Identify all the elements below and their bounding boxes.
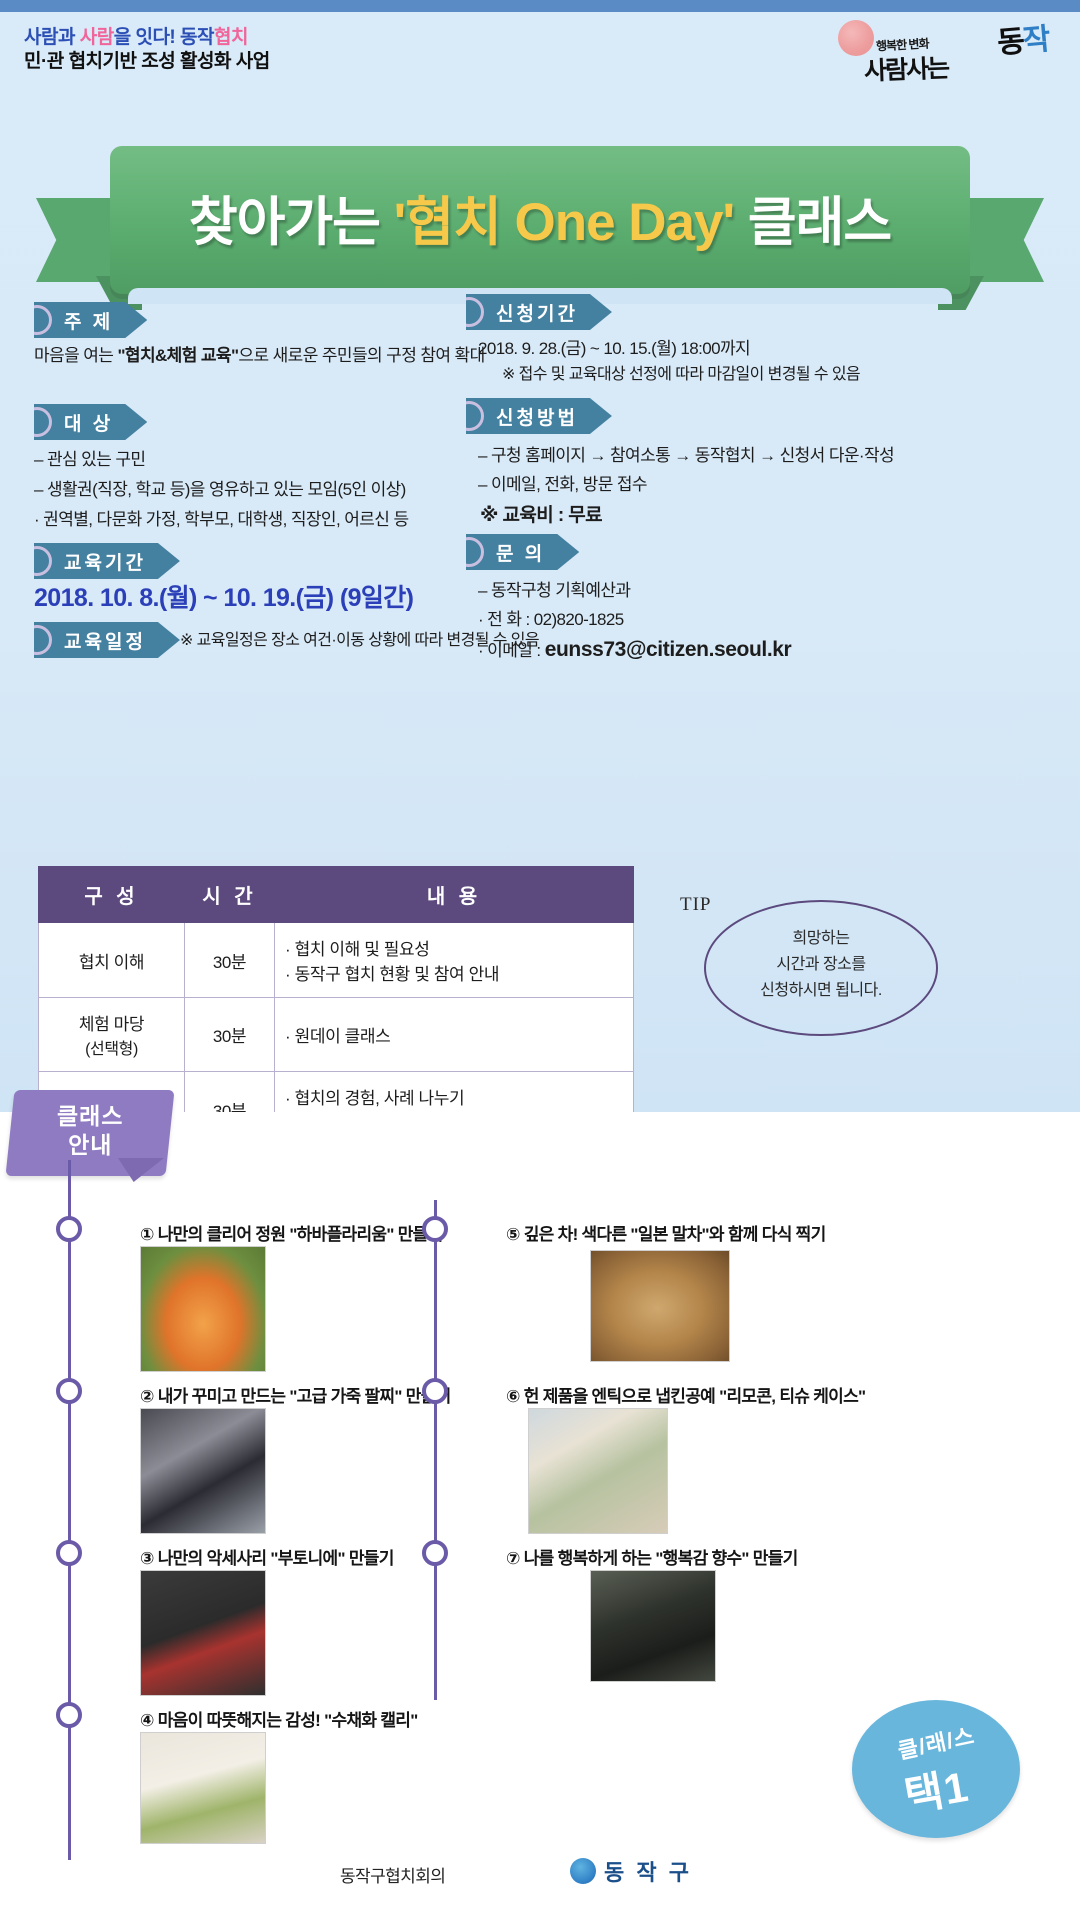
section-tag-topic: 주 제	[34, 302, 147, 338]
ribbon-tail-right	[966, 198, 1044, 282]
timeline-dot-icon	[422, 1378, 448, 1404]
class-item-title: ③ 나만의 악세사리 "부토니에" 만들기	[140, 1544, 394, 1569]
timeline-dot-icon	[422, 1216, 448, 1242]
class-guide-banner-text: 클래스 안내	[10, 1102, 170, 1160]
table-cell-name-text: 체험 마당	[49, 1010, 174, 1035]
class-item-number: ①	[140, 1225, 154, 1244]
class-item-number: ⑥	[506, 1387, 520, 1406]
poster-page: 사람과 사람을 잇다! 동작협치 민·관 협치기반 조성 활성화 사업 행복한 …	[0, 0, 1080, 1920]
section-tag-apply-period-label: 신청기간	[496, 299, 578, 326]
dongjak-district-logo: 행복한 변화 사람사는 동작	[828, 14, 1058, 78]
title-ribbon: 찾아가는 '협치 One Day' 클래스	[0, 120, 1080, 290]
top-accent-bar	[0, 0, 1080, 12]
ribbon-body: 찾아가는 '협치 One Day' 클래스	[110, 146, 970, 294]
title-part-2: '협치 One Day'	[394, 193, 734, 252]
tip-text-line: 희망하는	[704, 926, 938, 952]
table-cell-content: · 원데이 클래스	[275, 998, 634, 1072]
contact-email-value[interactable]: eunss73@citizen.seoul.kr	[545, 638, 792, 661]
logo-name: 동작	[995, 14, 1050, 62]
class-item-title: ④ 마음이 따뜻해지는 감성! "수채화 캘리"	[140, 1706, 418, 1731]
table-content-line: · 원데이 클래스	[285, 1022, 623, 1047]
header-line-1: 사람과 사람을 잇다! 동작협치	[24, 26, 270, 50]
contact-email-label: · 이메일 :	[478, 641, 545, 660]
title-part-3: 클래스	[734, 193, 891, 252]
table-content-line: · 동작구 협치 현황 및 참여 안내	[285, 960, 623, 985]
class-item-label: 내가 꾸미고 만드는 "고급 가죽 팔찌" 만들기	[158, 1387, 451, 1406]
contact-line-1: – 동작구청 기획예산과	[478, 578, 630, 604]
class-item-number: ③	[140, 1549, 154, 1568]
table-cell-time: 30분	[185, 923, 275, 998]
header-line1-part-e: 협치	[214, 27, 248, 48]
table-row: 체험 마당 (선택형) 30분 · 원데이 클래스	[39, 998, 634, 1072]
section-tag-target: 대 상	[34, 404, 147, 440]
apply-method-line-1: – 구청 홈페이지 → 참여소통 → 동작협치 → 신청서 다운·작성	[478, 443, 894, 469]
footer-organization: 동작구협치회의	[340, 1862, 445, 1887]
section-tag-topic-label: 주 제	[64, 307, 113, 334]
class-item-label: 나만의 악세사리 "부토니에" 만들기	[158, 1549, 394, 1568]
section-tag-period: 교육기간	[34, 543, 180, 579]
class-guide-line-1: 클래스	[10, 1102, 170, 1131]
contact-line-2: · 전 화 : 02)820-1825	[478, 607, 624, 633]
pick-one-badge: 클/래/스 택1	[852, 1700, 1020, 1838]
timeline-dot-icon	[56, 1702, 82, 1728]
header-line1-part-a: 사람과	[24, 27, 80, 48]
class-item-title: ① 나만의 클리어 정원 "하바플라리움" 만들기	[140, 1220, 443, 1245]
class-item-number: ⑤	[506, 1225, 520, 1244]
table-header-content: 내 용	[275, 867, 634, 923]
class-item-photo	[140, 1732, 266, 1844]
class-item-photo	[590, 1570, 716, 1682]
section-tag-apply-method: 신청방법	[466, 398, 612, 434]
class-item-photo	[140, 1246, 266, 1372]
target-line-2: – 생활권(직장, 학교 등)을 영유하고 있는 모임(5인 이상)	[34, 477, 406, 503]
topic-text: 마음을 여는 "협치&체험 교육"으로 새로운 주민들의 구정 참여 확대	[34, 343, 554, 369]
class-item-title: ⑦ 나를 행복하게 하는 "행복감 향수" 만들기	[506, 1544, 798, 1569]
section-tag-schedule: 교육일정	[34, 622, 180, 658]
timeline-dot-icon	[56, 1216, 82, 1242]
class-item-label: 마음이 따뜻해지는 감성! "수채화 캘리"	[158, 1711, 418, 1730]
class-item-number: ②	[140, 1387, 154, 1406]
table-header-name: 구 성	[39, 867, 185, 923]
class-item-number: ④	[140, 1711, 154, 1730]
logo-name-a: 동	[996, 25, 1024, 60]
class-item-photo	[140, 1408, 266, 1534]
class-item-number: ⑦	[506, 1549, 520, 1568]
header-text-block: 사람과 사람을 잇다! 동작협치 민·관 협치기반 조성 활성화 사업	[24, 26, 270, 75]
section-tag-period-label: 교육기간	[64, 548, 146, 575]
table-content-line: · 협치 이해 및 필요성	[285, 935, 623, 960]
header-line1-part-b: 사람	[80, 27, 114, 48]
class-item-photo	[590, 1250, 730, 1362]
header-line1-part-d: 동작	[180, 27, 214, 48]
page-title: 찾아가는 '협치 One Day' 클래스	[110, 180, 970, 256]
table-content-line: · 협치의 경험, 사례 나누기	[285, 1084, 623, 1109]
target-line-1: – 관심 있는 구민	[34, 447, 145, 473]
target-line-3: · 권역별, 다문화 가정, 학부모, 대학생, 직장인, 어르신 등	[34, 507, 409, 533]
table-cell-name: 협치 이해	[39, 923, 185, 998]
class-item-label: 나만의 클리어 정원 "하바플라리움" 만들기	[158, 1225, 443, 1244]
class-guide-line-2: 안내	[10, 1131, 170, 1160]
class-item-photo	[140, 1570, 266, 1696]
logo-tagline-mid: 사람사는	[863, 49, 948, 88]
period-value: 2018. 10. 8.(월) ~ 10. 19.(금) (9일간)	[34, 578, 413, 614]
title-part-1: 찾아가는	[189, 193, 394, 252]
class-item-label: 깊은 차! 색다른 "일본 말차"와 함께 다식 찍기	[524, 1225, 826, 1244]
class-item-title: ⑤ 깊은 차! 색다른 "일본 말차"와 함께 다식 찍기	[506, 1220, 826, 1245]
timeline-line-right	[434, 1200, 437, 1700]
topic-text-a: 마음을 여는	[34, 346, 117, 365]
topic-text-highlight: "협치&체험 교육"	[117, 346, 238, 365]
ribbon-tail-left	[36, 198, 114, 282]
section-tag-apply-method-label: 신청방법	[496, 403, 578, 430]
table-row: 협치 이해 30분 · 협치 이해 및 필요성 · 동작구 협치 현황 및 참여…	[39, 923, 634, 998]
apply-period-note: ※ 접수 및 교육대상 선정에 따라 마감일이 변경될 수 있음	[502, 363, 860, 388]
section-tag-apply-period: 신청기간	[466, 294, 612, 330]
class-item-label: 나를 행복하게 하는 "행복감 향수" 만들기	[524, 1549, 798, 1568]
timeline-dot-icon	[422, 1540, 448, 1566]
apply-period-value: 2018. 9. 28.(금) ~ 10. 15.(월) 18:00까지	[478, 336, 750, 362]
class-item-photo	[528, 1408, 668, 1534]
section-tag-target-label: 대 상	[64, 409, 113, 436]
tip-label: TIP	[680, 894, 712, 916]
timeline-dot-icon	[56, 1378, 82, 1404]
timeline-dot-icon	[56, 1540, 82, 1566]
tip-text: 희망하는 시간과 장소를 신청하시면 됩니다.	[704, 926, 938, 1004]
header-line-2: 민·관 협치기반 조성 활성화 사업	[24, 50, 270, 74]
tip-text-line: 시간과 장소를	[704, 952, 938, 978]
section-tag-contact-label: 문 의	[496, 539, 545, 566]
table-cell-name-text: 협치 이해	[79, 953, 144, 972]
apply-method-line-2: – 이메일, 전화, 방문 접수	[478, 472, 647, 498]
section-tag-schedule-label: 교육일정	[64, 627, 146, 654]
class-item-title: ② 내가 꾸미고 만드는 "고급 가죽 팔찌" 만들기	[140, 1382, 451, 1407]
table-cell-content: · 협치 이해 및 필요성 · 동작구 협치 현황 및 참여 안내	[275, 923, 634, 998]
footer-logo-text: 동 작 구	[604, 1855, 692, 1887]
table-header-row: 구 성 시 간 내 용	[39, 867, 634, 923]
timeline-line-left	[68, 1160, 71, 1860]
section-tag-contact: 문 의	[466, 534, 579, 570]
class-item-title: ⑥ 헌 제품을 엔틱으로 냅킨공예 "리모콘, 티슈 케이스"	[506, 1382, 865, 1407]
tip-text-line: 신청하시면 됩니다.	[704, 978, 938, 1004]
footer-logo-mark-icon	[570, 1858, 596, 1884]
contact-email-row: · 이메일 : eunss73@citizen.seoul.kr	[478, 634, 791, 667]
footer-logo: 동 작 구	[570, 1855, 692, 1887]
tip-callout: TIP 희망하는 시간과 장소를 신청하시면 됩니다.	[660, 880, 1060, 1060]
class-item-label: 헌 제품을 엔틱으로 냅킨공예 "리모콘, 티슈 케이스"	[524, 1387, 866, 1406]
apply-method-fee: ※ 교육비 : 무료	[480, 501, 602, 530]
topic-text-c: 으로 새로운 주민들의 구정 참여 확대	[238, 346, 484, 365]
table-cell-name: 체험 마당 (선택형)	[39, 998, 185, 1072]
table-cell-name-sub: (선택형)	[49, 1035, 174, 1059]
table-cell-time: 30분	[185, 998, 275, 1072]
header-line1-part-c: 을 잇다!	[114, 27, 180, 48]
table-header-time: 시 간	[185, 867, 275, 923]
logo-name-b: 작	[1021, 23, 1049, 58]
